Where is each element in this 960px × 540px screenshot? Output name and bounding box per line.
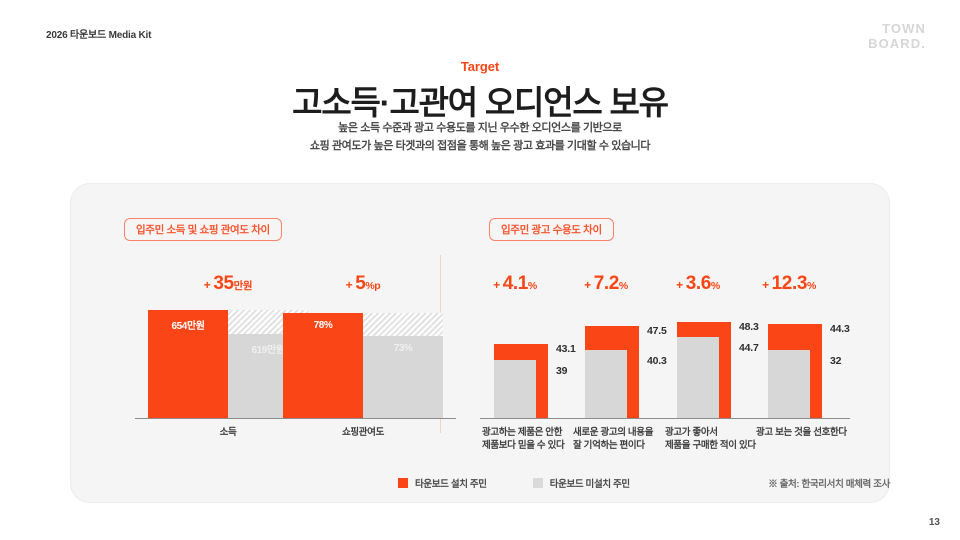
right-group-3-delta-value: 12.3 — [772, 273, 807, 294]
brand-logo: TOWN BOARD. — [868, 22, 926, 51]
badge-left-section: 입주민 소득 및 쇼핑 관여도 차이 — [124, 218, 282, 241]
right-group-2-bar-not-installed — [677, 337, 719, 418]
source-note: ※ 출처: 한국리서치 매체력 조사 — [768, 476, 890, 490]
badge-right-section: 입주민 광고 수용도 차이 — [489, 218, 614, 241]
page-title: 고소득·고관여 오디언스 보유 — [0, 76, 960, 124]
left-group-0-delta-value: 35 — [213, 273, 233, 294]
legend-label-not-installed: 타운보드 미설치 주민 — [550, 476, 630, 490]
right-group-3-bar-not-installed — [768, 350, 810, 418]
right-chart-axis — [480, 418, 850, 419]
left-group-1-category: 쇼핑관여도 — [253, 426, 473, 439]
slide-root: 2026 타운보드 Media Kit TOWN BOARD. Target 고… — [0, 0, 960, 540]
left-group-0-label-installed: 654만원 — [148, 317, 228, 332]
right-group-2-value-not-installed: 44.7 — [739, 342, 759, 354]
right-group-0-value-not-installed: 39 — [556, 365, 567, 377]
right-group-0-bar-not-installed — [494, 360, 536, 418]
legend-label-installed: 타운보드 설치 주민 — [415, 476, 487, 490]
section-eyebrow: Target — [0, 59, 960, 74]
left-group-1-gap-hatch — [363, 313, 443, 336]
right-group-3-delta-unit: % — [807, 280, 816, 292]
right-group-2-value-installed: 48.3 — [739, 321, 759, 333]
left-group-1-label-not-installed: 73% — [363, 343, 443, 354]
chart-legend: 타운보드 설치 주민 타운보드 미설치 주민 — [398, 476, 630, 490]
page-number: 13 — [929, 517, 940, 528]
logo-line-2: BOARD. — [868, 37, 926, 52]
legend-item-not-installed: 타운보드 미설치 주민 — [533, 476, 630, 490]
right-group-0-value-installed: 43.1 — [556, 343, 576, 355]
right-group-3-delta: + 12.3% — [669, 273, 909, 295]
right-group-3-value-not-installed: 32 — [830, 355, 841, 367]
left-group-1-label-installed: 78% — [283, 320, 363, 331]
legend-swatch-not-installed-icon — [533, 478, 543, 488]
document-label: 2026 타운보드 Media Kit — [46, 26, 151, 41]
legend-item-installed: 타운보드 설치 주민 — [398, 476, 487, 490]
right-group-3-category: 광고 보는 것을 선호한다 — [756, 426, 868, 439]
right-group-1-value-not-installed: 40.3 — [647, 355, 667, 367]
left-group-0-delta-sign: + — [204, 278, 214, 292]
right-group-3-value-installed: 44.3 — [830, 323, 850, 335]
legend-swatch-installed-icon — [398, 478, 408, 488]
logo-line-1: TOWN — [868, 22, 926, 37]
left-group-1-axis — [270, 418, 456, 419]
left-group-1-delta-unit: %p — [365, 280, 380, 292]
subtitle-line-1: 높은 소득 수준과 광고 수용도를 지닌 우수한 오디언스를 기반으로 — [0, 120, 960, 138]
right-group-1-value-installed: 47.5 — [647, 325, 667, 337]
right-group-3-delta-sign: + — [762, 278, 772, 292]
right-group-1-bar-not-installed — [585, 350, 627, 418]
left-group-1-delta-value: 5 — [355, 273, 365, 294]
subtitle-line-2: 쇼핑 관여도가 높은 타겟과의 접점을 통해 높은 광고 효과를 기대할 수 있… — [0, 138, 960, 156]
page-subtitle: 높은 소득 수준과 광고 수용도를 지닌 우수한 오디언스를 기반으로 쇼핑 관… — [0, 120, 960, 156]
left-group-1-delta-sign: + — [346, 278, 356, 292]
